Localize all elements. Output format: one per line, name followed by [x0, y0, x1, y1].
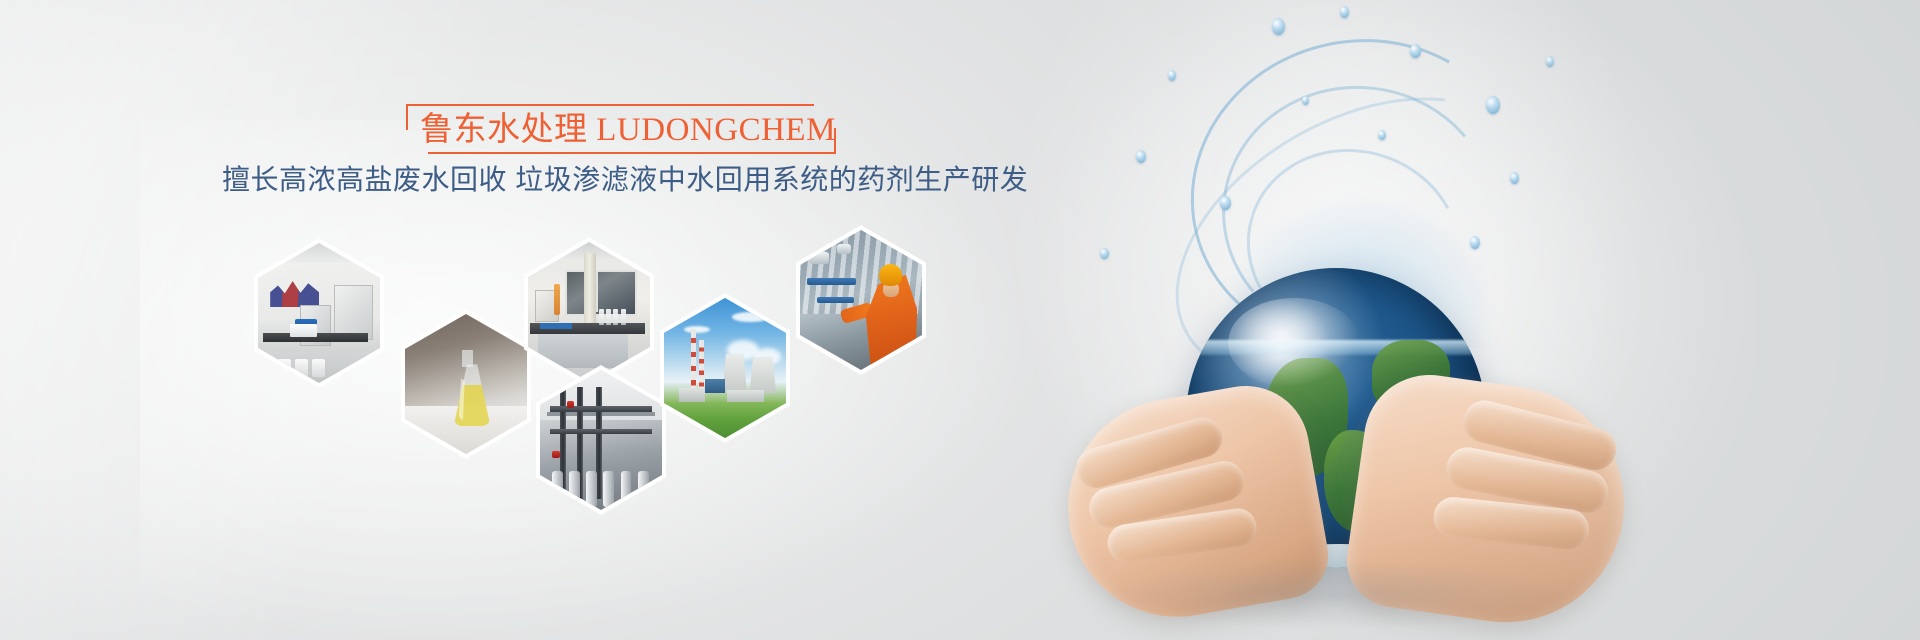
title-left-bracket — [406, 104, 408, 130]
hex-photo-worker — [796, 225, 926, 375]
title-right-bracket — [834, 128, 836, 154]
hero-banner: 鲁东水处理 LUDONGCHEM 擅长高浓高盐废水回收 垃圾渗滤液中水回用系统的… — [0, 0, 1920, 640]
banner-subtitle: 擅长高浓高盐废水回收 垃圾渗滤液中水回用系统的药剂生产研发 — [222, 160, 1002, 200]
brand-title-block: 鲁东水处理 LUDONGCHEM — [406, 104, 836, 154]
title-top-rule — [406, 104, 814, 106]
title-bottom-rule — [428, 152, 836, 154]
hex-photo-glassware — [524, 237, 654, 387]
water-splash-globe-artwork — [1040, 0, 1920, 640]
hex-photo-ro-skid — [536, 365, 666, 515]
safety-helmet — [879, 264, 902, 286]
hex-photo-power-plant — [660, 293, 790, 443]
hex-photo-flask — [401, 309, 531, 459]
page-title: 鲁东水处理 LUDONGCHEM — [420, 108, 840, 152]
hex-photo-lab-room — [254, 238, 384, 388]
